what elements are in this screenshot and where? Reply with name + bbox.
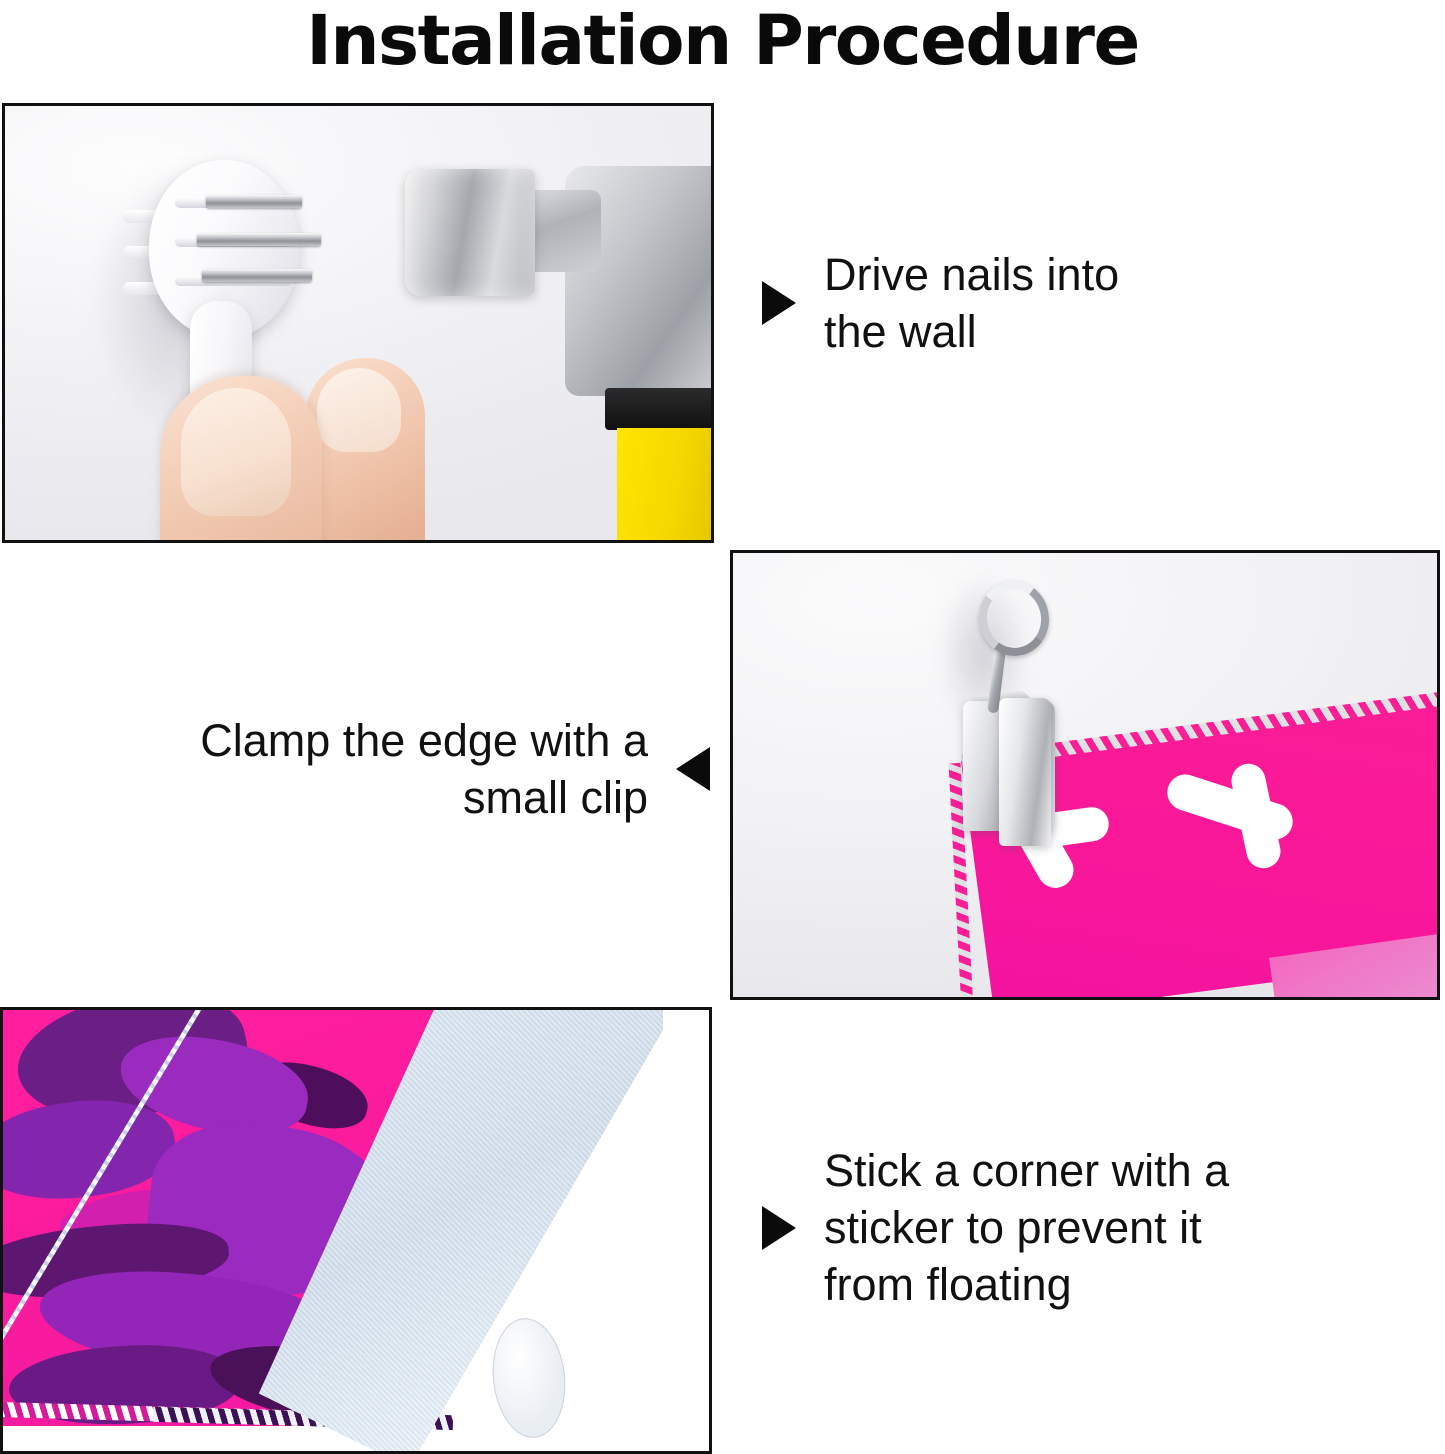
triangle-left-icon <box>676 747 710 791</box>
photo-stick-corner-scene <box>3 1010 709 1451</box>
photo-clamp-edge <box>730 550 1440 1000</box>
photo-drive-nails <box>2 103 714 543</box>
photo-drive-nails-scene <box>5 106 711 540</box>
photo-clamp-edge-scene <box>733 553 1437 997</box>
nail-icon <box>206 195 302 208</box>
hammer-collar <box>605 388 711 430</box>
triangle-right-icon <box>762 1206 796 1250</box>
installation-procedure-infographic: Installation Procedure <box>0 0 1445 1454</box>
hammer-head <box>405 169 535 296</box>
hammer-grip <box>617 428 711 540</box>
caption-drive-nails: Drive nails into the wall <box>762 246 1322 360</box>
index-fingernail <box>317 368 401 452</box>
caption-drive-nails-text: Drive nails into the wall <box>824 246 1119 360</box>
caption-clamp-edge: Clamp the edge with a small clip <box>70 712 710 826</box>
thumbnail <box>181 388 291 516</box>
nail-icon <box>202 269 312 282</box>
photo-stick-corner <box>0 1007 712 1454</box>
adhesive-sticker <box>487 1315 571 1442</box>
nail-icon <box>197 233 321 246</box>
caption-stick-corner: Stick a corner with a sticker to prevent… <box>762 1142 1362 1313</box>
triangle-right-icon <box>762 281 796 325</box>
caption-stick-corner-text: Stick a corner with a sticker to prevent… <box>824 1142 1229 1313</box>
caption-clamp-edge-text: Clamp the edge with a small clip <box>200 712 648 826</box>
clip-lever <box>999 698 1051 846</box>
page-title: Installation Procedure <box>0 2 1445 80</box>
